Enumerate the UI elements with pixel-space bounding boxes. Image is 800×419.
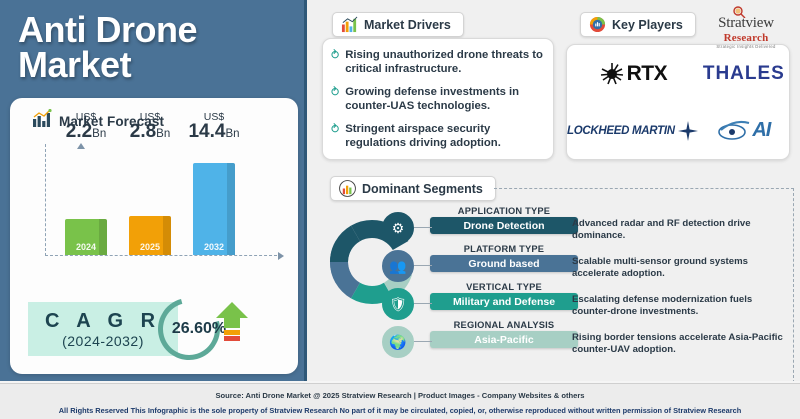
bar-value-label: US$14.4Bn — [188, 112, 239, 142]
rtx-sunburst-icon — [599, 61, 625, 87]
bar-number: 14.4 — [188, 121, 225, 142]
market-driver-item: ⥁Growing defense investments in counter-… — [331, 85, 545, 114]
footer-source: Source: Anti Drone Market @ 2025 Stratvi… — [0, 384, 800, 400]
segment-title: APPLICATION TYPE — [430, 206, 578, 216]
bar-chart-icon — [32, 109, 52, 134]
bar: 2032 — [193, 163, 235, 255]
bar-year-label: 2025 — [140, 242, 160, 255]
footer-rights: All Rights Reserved This Infographic is … — [0, 400, 800, 415]
segment-rows: ⚙APPLICATION TYPEDrone Detection👥PLATFOR… — [430, 206, 578, 358]
dominant-segments-label: Dominant Segments — [362, 182, 483, 196]
key-players-card: RTX THALES LOCKHEED MARTIN AI — [566, 44, 790, 160]
market-driver-item: ⥁Rising unauthorized drone threats to cr… — [331, 48, 545, 77]
segment-description: Scalable multi-sensor ground systems acc… — [572, 256, 788, 281]
forecast-bar-chart: US$2.2Bn2024US$2.8Bn2025US$14.4Bn2032 — [10, 140, 298, 270]
segment-connector — [414, 265, 432, 266]
loop-bullet-icon: ⥁ — [331, 85, 339, 114]
bar-year-label: 2024 — [76, 242, 96, 255]
brand-name: Stratview — [698, 15, 794, 32]
segment-row[interactable]: 🛡VERTICAL TYPEMilitary and Defense — [430, 282, 578, 320]
loop-bullet-icon: ⥁ — [331, 48, 339, 77]
bar-chart-colored-icon — [341, 16, 358, 33]
genai-wordmark: AI — [752, 119, 770, 142]
bar-number: 2.8 — [130, 121, 156, 142]
market-drivers-header: Market Drivers — [332, 12, 464, 38]
segment-row[interactable]: ⚙APPLICATION TYPEDrone Detection — [430, 206, 578, 244]
dominant-segments-header: Dominant Segments — [330, 176, 496, 202]
loop-bullet-icon: ⥁ — [331, 122, 339, 151]
market-driver-text: Rising unauthorized drone threats to cri… — [345, 48, 545, 77]
bar: 2024 — [65, 219, 107, 255]
market-drivers-chip: Market Drivers — [332, 12, 464, 37]
infographic-canvas: Anti Drone Market Market Forecast — [0, 0, 800, 419]
cagr-label: C A G R — [45, 310, 161, 333]
growth-arrow-icon — [214, 302, 250, 354]
segment-description: Rising border tensions accelerate Asia-P… — [572, 332, 788, 357]
bar-unit: Bn — [225, 128, 239, 140]
segments-divider-vertical — [793, 188, 794, 383]
bar-chart-colored-icon — [339, 180, 356, 197]
logo-thales: THALES — [703, 63, 785, 85]
segment-description: Escalating defense modernization fuels c… — [572, 294, 788, 319]
bar-column: US$2.8Bn2025 — [129, 143, 171, 255]
bar-unit: Bn — [92, 128, 106, 140]
x-axis-arrow — [278, 252, 284, 260]
segments-divider — [494, 188, 794, 189]
x-axis — [45, 255, 277, 256]
market-driver-item: ⥁Stringent airspace security regulations… — [331, 122, 545, 151]
segment-title: PLATFORM TYPE — [430, 244, 578, 254]
dominant-segments-chip: Dominant Segments — [330, 176, 496, 201]
logo-general-atomics: AI — [717, 119, 770, 143]
brand-sub: Research — [698, 32, 794, 44]
segment-value: Asia-Pacific — [430, 331, 578, 348]
segment-connector — [414, 341, 432, 342]
logo-lockheed-martin: LOCKHEED MARTIN — [567, 120, 699, 142]
people-network-icon: 👥 — [382, 250, 414, 282]
segment-row[interactable]: 👥PLATFORM TYPEGround based — [430, 244, 578, 282]
page-title: Anti Drone Market — [0, 0, 304, 89]
bar-unit: Bn — [156, 128, 170, 140]
segment-value: Drone Detection — [430, 217, 578, 234]
general-atomics-swoosh-icon — [717, 119, 751, 143]
market-driver-text: Growing defense investments in counter-U… — [345, 85, 545, 114]
browser-gear-icon: ⚙ — [382, 212, 414, 244]
donut-chart-icon — [589, 16, 606, 33]
segment-connector — [414, 303, 432, 304]
key-players-label: Key Players — [612, 18, 683, 32]
globe-icon: 🌍 — [382, 326, 414, 358]
lockheed-star-icon — [677, 120, 699, 142]
segment-value: Military and Defense — [430, 293, 578, 310]
key-players-header: Key Players — [580, 12, 696, 38]
title-line-2: Market — [18, 47, 286, 82]
segment-value: Ground based — [430, 255, 578, 272]
y-axis — [45, 144, 46, 256]
segment-description: Advanced radar and RF detection drive do… — [572, 218, 788, 243]
market-drivers-label: Market Drivers — [364, 18, 451, 32]
cagr-block: C A G R (2024-2032) 26.60% — [28, 298, 280, 360]
footer: Source: Anti Drone Market @ 2025 Stratvi… — [0, 383, 800, 419]
lockheed-wordmark: LOCKHEED MARTIN — [567, 125, 675, 137]
bar-year-label: 2032 — [204, 242, 224, 255]
bar-value-label: US$2.8Bn — [130, 112, 171, 142]
title-line-1: Anti Drone — [18, 12, 286, 47]
left-panel: Anti Drone Market Market Forecast — [0, 0, 307, 384]
segment-title: VERTICAL TYPE — [430, 282, 578, 292]
market-forecast-card: Market Forecast US$2.2Bn2024US$2.8Bn2025… — [10, 98, 298, 374]
bar: 2025 — [129, 216, 171, 255]
stratview-logo: Stratview Research Strategic Insights De… — [698, 6, 794, 49]
shield-badge-icon: 🛡 — [382, 288, 414, 320]
market-driver-text: Stringent airspace security regulations … — [345, 122, 545, 151]
bar-column: US$2.2Bn2024 — [65, 143, 107, 255]
segment-connector — [414, 227, 432, 228]
key-players-chip: Key Players — [580, 12, 696, 37]
segment-title: REGIONAL ANALYSIS — [430, 320, 578, 330]
brand-tagline: Strategic Insights Delivered — [698, 44, 794, 49]
bar-number: 2.2 — [66, 121, 92, 142]
market-drivers-card: ⥁Rising unauthorized drone threats to cr… — [322, 38, 554, 160]
cagr-period: (2024-2032) — [62, 333, 144, 349]
bar-column: US$14.4Bn2032 — [193, 143, 235, 255]
logo-rtx: RTX — [599, 61, 668, 87]
bar-value-label: US$2.2Bn — [66, 112, 107, 142]
segment-row[interactable]: 🌍REGIONAL ANALYSISAsia-Pacific — [430, 320, 578, 358]
bar-group: US$2.2Bn2024US$2.8Bn2025US$14.4Bn2032 — [65, 143, 265, 255]
rtx-wordmark: RTX — [627, 62, 668, 86]
